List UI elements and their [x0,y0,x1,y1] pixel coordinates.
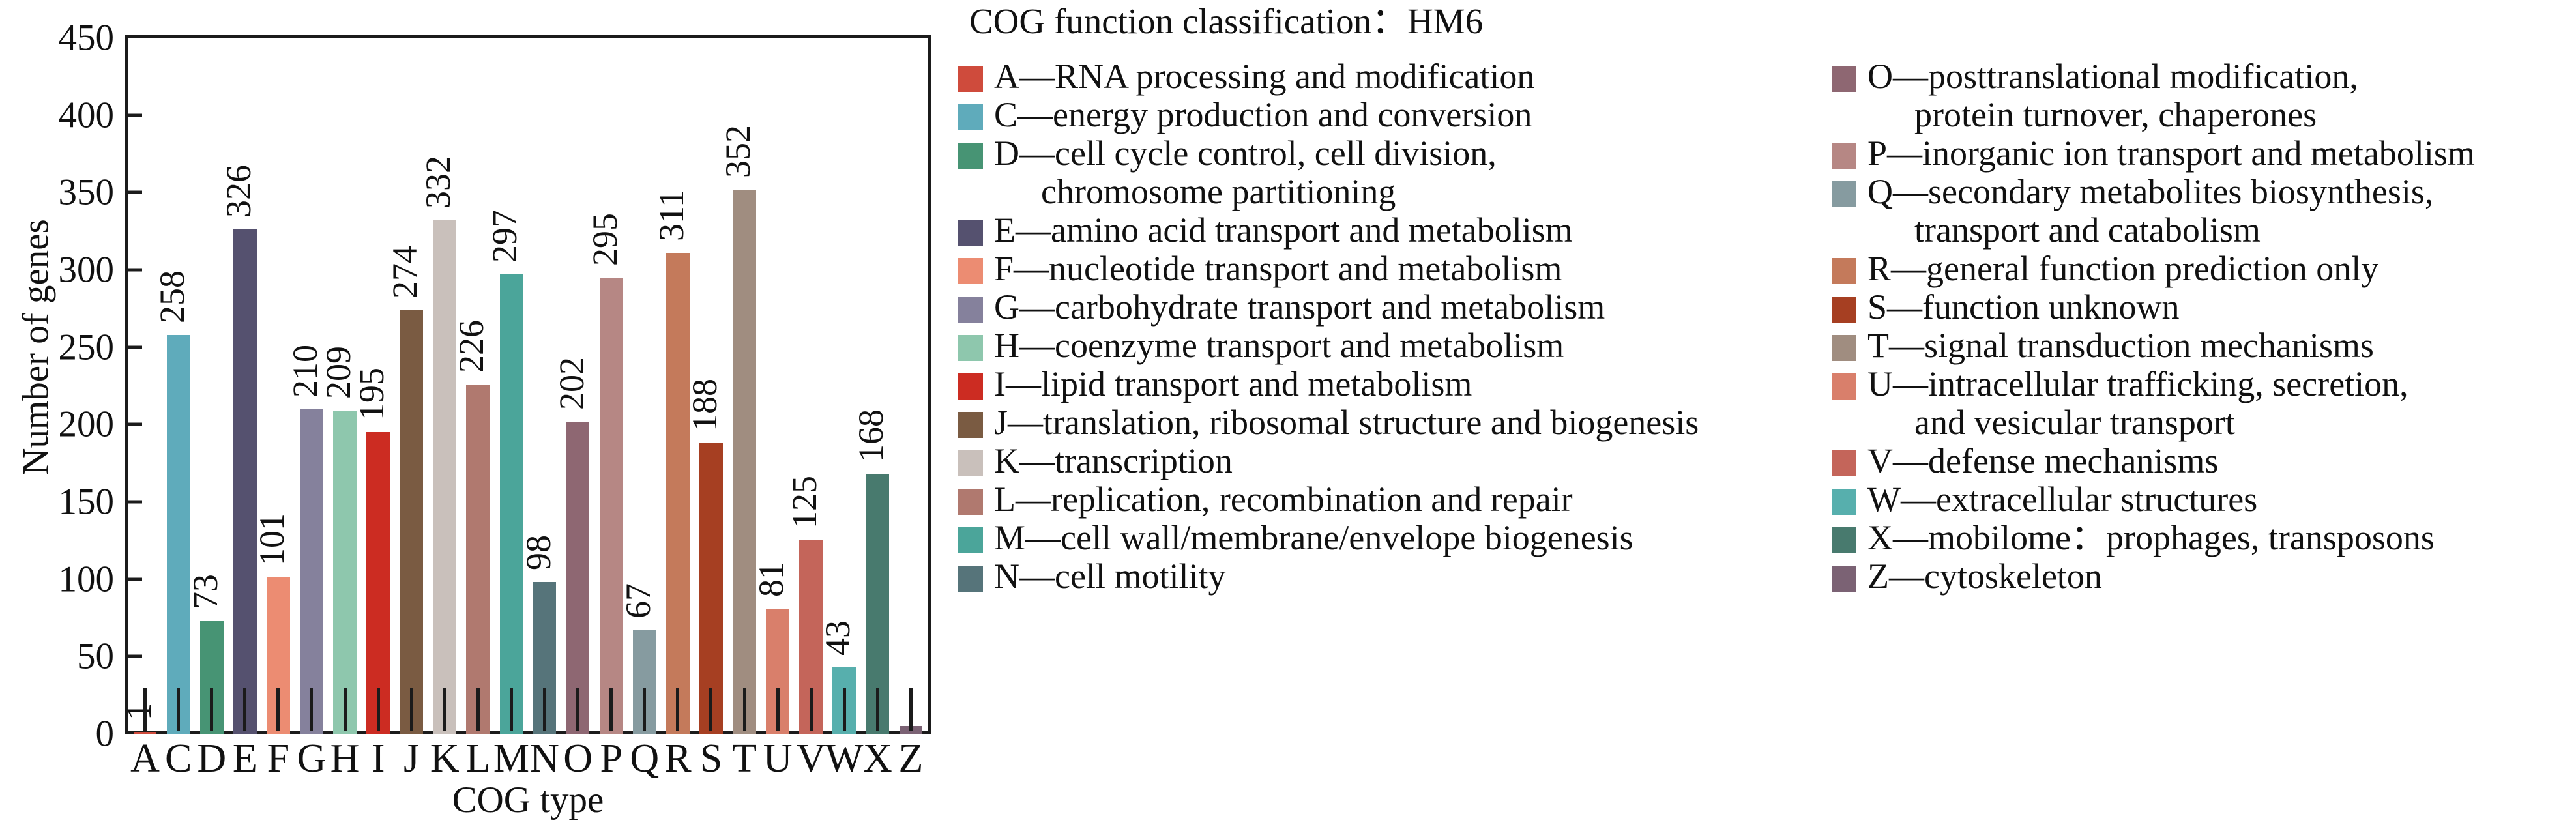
x-tick-label: N [530,736,559,781]
x-tick-label: K [430,736,460,781]
legend-item-label: Q—secondary metabolites biosynthesis,tra… [1867,173,2433,250]
x-tick-label: Z [899,736,924,781]
bar-slot: 226 [466,38,490,734]
legend-item-label: R—general function prediction only [1867,250,2378,288]
x-tick-label: J [403,736,419,781]
bar-slot: 326 [233,38,257,734]
x-tick-mark [510,688,513,731]
legend-item-d[interactable]: D—cell cycle control, cell division,chro… [958,134,1838,211]
legend-item-label: U—intracellular trafficking, secretion,a… [1867,365,2408,442]
legend-item-label: O—posttranslational modification,protein… [1867,57,2358,134]
legend-swatch-icon [958,566,983,592]
x-tick-mark [243,688,246,731]
legend-item-label: M—cell wall/membrane/envelope biogenesis [994,519,1633,557]
bar-value-label: 258 [154,270,190,323]
bar[interactable] [300,409,323,734]
x-tick-label: P [600,736,622,781]
x-tick-mark [609,688,613,731]
legend-swatch-icon [958,412,983,438]
x-tick-label: V [797,736,826,781]
legend-item-v[interactable]: V—defense mechanisms [1832,442,2568,480]
legend-swatch-icon [958,489,983,515]
x-tick-mark [310,688,313,731]
legend-item-label-continued: chromosome partitioning [994,173,1497,211]
legend-item-label: N—cell motility [994,557,1225,596]
y-tick-label: 100 [59,560,115,598]
x-tick-mark [810,688,813,731]
legend-item-q[interactable]: Q—secondary metabolites biosynthesis,tra… [1832,173,2568,250]
legend-item-a[interactable]: A—RNA processing and modification [958,57,1838,96]
x-tick-label: W [825,736,864,781]
x-tick-mark [410,688,413,731]
x-tick-label: U [763,736,793,781]
bar-value-label: 295 [587,213,622,266]
legend-item-c[interactable]: C—energy production and conversion [958,96,1838,134]
x-tick-label: F [267,736,289,781]
legend-swatch-icon [958,450,983,476]
y-tick-label: 200 [59,406,115,443]
legend-swatch-icon [958,373,983,400]
legend-item-label: L—replication, recombination and repair [994,480,1573,519]
legend-swatch-icon [1832,143,1856,169]
legend-item-label: H—coenzyme transport and metabolism [994,327,1564,365]
legend-item-r[interactable]: R—general function prediction only [1832,250,2568,288]
legend-item-n[interactable]: N—cell motility [958,557,1838,596]
x-tick-label: E [233,736,257,781]
legend-item-label: G—carbohydrate transport and metabolism [994,288,1605,327]
y-tick-label: 450 [59,20,115,57]
legend-swatch-icon [1832,450,1856,476]
legend-item-label: S—function unknown [1867,288,2180,327]
legend-item-l[interactable]: L—replication, recombination and repair [958,480,1838,519]
legend-item-label: Z—cytoskeleton [1867,557,2102,596]
y-tick-mark [125,577,142,581]
bar[interactable] [600,278,623,734]
x-tick-mark [643,688,646,731]
legend-title: COG function classification：HM6 [969,2,1483,41]
x-tick-mark [909,688,913,731]
y-axis-tick-labels: 050100150200250300350400450 [0,0,114,829]
legend-item-z[interactable]: Z—cytoskeleton [1832,557,2568,596]
bar-value-label: 297 [487,210,522,263]
legend-swatch-icon [958,335,983,361]
legend-swatch-icon [1832,527,1856,553]
legend-item-s[interactable]: S—function unknown [1832,288,2568,327]
x-tick-mark [676,688,679,731]
bar-value-label: 209 [321,346,356,399]
y-tick-mark [125,501,142,504]
legend-item-j[interactable]: J—translation, ribosomal structure and b… [958,403,1838,442]
y-tick-mark [125,655,142,658]
bar-value-label: 101 [254,513,289,566]
legend-swatch-icon [958,220,983,246]
legend-item-label: J—translation, ribosomal structure and b… [994,403,1699,442]
x-tick-label: X [863,736,892,781]
bar-value-label: 67 [621,583,656,618]
legend-item-k[interactable]: K—transcription [958,442,1838,480]
bar-value-label: 352 [720,125,755,178]
legend-item-p[interactable]: P—inorganic ion transport and metabolism [1832,134,2568,173]
bar-slot: 332 [433,38,456,734]
bar-value-label: 125 [787,476,822,529]
bar-value-label: 311 [654,190,689,241]
bar[interactable] [666,253,690,734]
legend-item-m[interactable]: M—cell wall/membrane/envelope biogenesis [958,519,1838,557]
legend-swatch-icon [1832,297,1856,323]
bar-value-label: 202 [554,357,589,410]
x-tick-label: C [165,736,192,781]
y-tick-label: 0 [96,716,115,753]
x-tick-mark [276,688,280,731]
bar-value-label: 195 [354,368,389,420]
legend-item-g[interactable]: G—carbohydrate transport and metabolism [958,288,1838,327]
x-tick-label: D [197,736,226,781]
legend-item-label: D—cell cycle control, cell division,chro… [994,134,1497,211]
legend-item-w[interactable]: W—extracellular structures [1832,480,2568,519]
bar-slot: 274 [400,38,423,734]
legend-swatch-icon [1832,258,1856,284]
x-tick-mark [843,688,846,731]
x-tick-label: A [130,736,160,781]
legend-item-f[interactable]: F—nucleotide transport and metabolism [958,250,1838,288]
legend-item-label: T—signal transduction mechanisms [1867,327,2374,365]
legend-item-x[interactable]: X—mobilome：prophages, transposons [1832,519,2568,557]
bar-slot: 168 [866,38,889,734]
x-tick-mark [210,688,213,731]
y-tick-label: 250 [59,328,115,366]
y-tick-mark [125,191,142,194]
legend-panel: COG function classification：HM6 A—RNA pr… [952,0,2576,829]
bar-slot [900,38,923,734]
bar-value-label: 43 [820,620,855,656]
x-tick-mark [776,688,780,731]
legend-column-left: A—RNA processing and modificationC—energ… [958,57,1838,596]
legend-swatch-icon [958,143,983,169]
legend-swatch-icon [1832,373,1856,400]
x-tick-label: S [700,736,722,781]
x-tick-mark [344,688,347,731]
x-axis-title: COG type [128,779,928,821]
legend-item-label: C—energy production and conversion [994,96,1532,134]
legend-item-e[interactable]: E—amino acid transport and metabolism [958,211,1838,250]
y-tick-mark [125,269,142,272]
bar[interactable] [500,274,523,734]
legend-item-label-continued: transport and catabolism [1867,211,2433,250]
y-tick-label: 350 [59,174,115,211]
bar-value-label: 226 [454,320,489,373]
y-tick-label: 50 [77,638,114,675]
bar-value-label: 274 [387,246,422,298]
legend-item-label: A—RNA processing and modification [994,57,1534,96]
bar-slot: 67 [633,38,656,734]
legend-item-label: E—amino acid transport and metabolism [994,211,1573,250]
y-tick-label: 300 [59,252,115,289]
bar-slot: 195 [366,38,390,734]
bar-slot: 202 [566,38,590,734]
legend-swatch-icon [958,527,983,553]
legend-swatch-icon [1832,566,1856,592]
legend-item-label: P—inorganic ion transport and metabolism [1867,134,2475,173]
bar-value-label: 332 [420,156,456,209]
y-tick-mark [125,423,142,426]
x-tick-label: R [664,736,691,781]
legend-item-label: I—lipid transport and metabolism [994,365,1472,403]
x-tick-label: I [372,736,385,781]
x-tick-mark [576,688,579,731]
y-tick-label: 400 [59,96,115,134]
legend-item-label: K—transcription [994,442,1233,480]
legend-item-label: F—nucleotide transport and metabolism [994,250,1562,288]
bar[interactable] [233,229,257,734]
chart-panel: Number of genes 050100150200250300350400… [0,0,952,829]
legend-swatch-icon [1832,66,1856,92]
bar-slot: 352 [733,38,756,734]
legend-item-i[interactable]: I—lipid transport and metabolism [958,365,1838,403]
legend-swatch-icon [958,297,983,323]
bar[interactable] [566,422,590,734]
bar-value-label: 210 [287,345,323,398]
legend-item-label-continued: protein turnover, chaperones [1867,96,2358,134]
bar-value-label: 188 [687,379,722,431]
legend-item-label: X—mobilome：prophages, transposons [1867,519,2435,557]
bar[interactable] [167,335,190,734]
bar-slot: 258 [167,38,190,734]
legend-item-h[interactable]: H—coenzyme transport and metabolism [958,327,1838,365]
x-tick-mark [177,688,180,731]
legend-item-t[interactable]: T—signal transduction mechanisms [1832,327,2568,365]
legend-item-label: W—extracellular structures [1867,480,2257,519]
bar-value-label: 98 [521,535,556,570]
x-tick-mark [377,688,380,731]
legend-swatch-icon [1832,489,1856,515]
x-axis-tick-marks [128,688,928,734]
legend-swatch-icon [958,104,983,130]
x-tick-mark [709,688,712,731]
legend-item-o[interactable]: O—posttranslational modification,protein… [1832,57,2568,134]
x-tick-label: Q [630,736,659,781]
x-tick-label: L [465,736,490,781]
bar[interactable] [733,190,756,734]
legend-item-label: V—defense mechanisms [1867,442,2218,480]
legend-item-u[interactable]: U—intracellular trafficking, secretion,a… [1832,365,2568,442]
bar-slot: 81 [766,38,789,734]
y-tick-mark [125,345,142,349]
bar-value-label: 326 [221,165,256,218]
bar-value-label: 168 [853,409,888,462]
bar-value-label: 81 [754,562,789,597]
x-tick-mark [743,688,746,731]
x-tick-mark [543,688,546,731]
legend-item-label-continued: and vesicular transport [1867,403,2408,442]
x-tick-label: M [493,736,529,781]
bar[interactable] [433,220,456,734]
x-tick-label: O [563,736,593,781]
bar-slot: 295 [600,38,623,734]
legend-swatch-icon [1832,335,1856,361]
y-tick-mark [125,113,142,117]
bar[interactable] [466,385,490,734]
bar-slot: 43 [832,38,856,734]
legend-swatch-icon [958,258,983,284]
legend-swatch-icon [958,66,983,92]
bar-slot: 297 [500,38,523,734]
y-tick-label: 150 [59,484,115,521]
x-tick-label: T [732,736,757,781]
bar-series: 1258733261012102091952743322262979820229… [128,38,928,734]
x-tick-mark [443,688,446,731]
x-tick-mark [143,688,147,731]
x-tick-label: H [330,736,360,781]
bar[interactable] [333,411,357,734]
bar-value-label: 73 [188,574,223,609]
bar[interactable] [400,310,423,734]
legend-column-right: O—posttranslational modification,protein… [1832,57,2568,596]
legend-swatch-icon [1832,181,1856,207]
bar-slot: 73 [200,38,224,734]
x-tick-mark [876,688,879,731]
x-tick-label: G [297,736,327,781]
bar-slot: 1 [134,38,157,734]
x-tick-mark [476,688,480,731]
